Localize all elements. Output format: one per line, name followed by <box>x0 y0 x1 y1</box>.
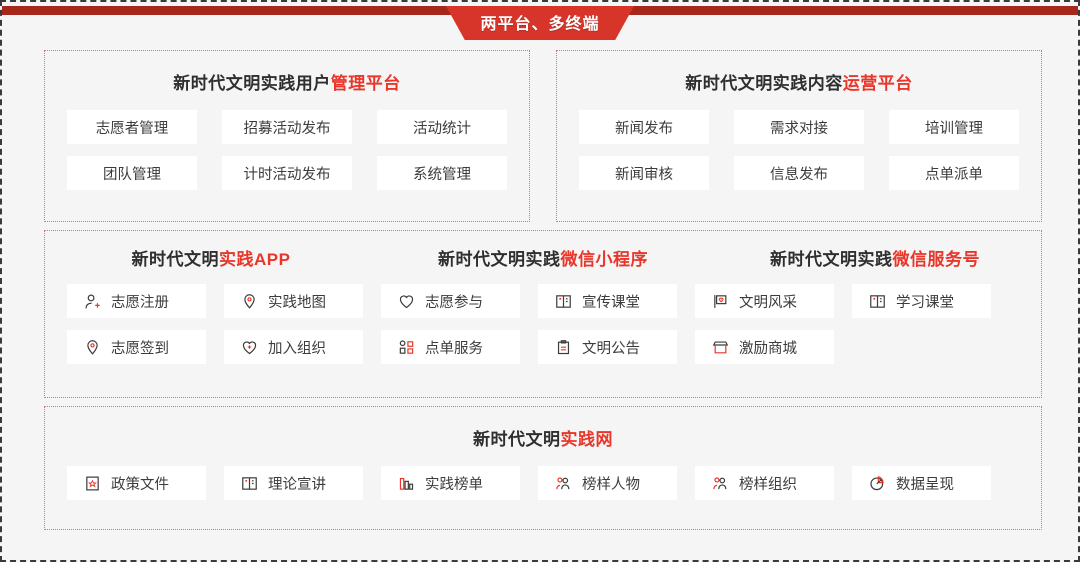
ribbon-label: 两平台、多终端 <box>480 10 599 34</box>
tile-team-management[interactable]: 团队管理 <box>67 156 197 190</box>
tile-volunteer-management[interactable]: 志愿者管理 <box>67 110 197 144</box>
tile-role-model-organization[interactable]: 榜样组织 <box>695 466 834 500</box>
tile-system-management[interactable]: 系统管理 <box>377 156 507 190</box>
heading-app: 新时代文明实践APP <box>45 245 377 270</box>
tile-recruit-activity-publish[interactable]: 招募活动发布 <box>222 110 352 144</box>
tile-row: 政策文件 理论宣讲 实践榜单 <box>67 466 1019 500</box>
tile-row: 志愿者管理 招募活动发布 活动统计 <box>45 110 529 144</box>
tile-join-organization[interactable]: 加入组织 <box>224 330 363 364</box>
tile-volunteer-checkin[interactable]: 志愿签到 <box>67 330 206 364</box>
document-star-icon <box>83 474 101 492</box>
panel-user-platform: 新时代文明实践用户管理平台 志愿者管理 招募活动发布 活动统计 团队管理 计时活… <box>44 50 530 222</box>
tile-row: 团队管理 计时活动发布 系统管理 <box>45 156 529 190</box>
panel-terminals: 新时代文明实践APP 新时代文明实践微信小程序 新时代文明实践微信服务号 志愿注… <box>44 230 1042 398</box>
tile-volunteer-participate[interactable]: 志愿参与 <box>381 284 520 318</box>
tile-label: 宣传课堂 <box>582 291 640 312</box>
ribbon-banner: 两平台、多终端 <box>446 6 634 40</box>
tile-row: 新闻审核 信息发布 点单派单 <box>557 156 1041 190</box>
title-plain: 新时代文明实践用户 <box>173 74 331 93</box>
heading-miniprogram: 新时代文明实践微信小程序 <box>377 245 709 270</box>
tile-practice-ranking[interactable]: 实践榜单 <box>381 466 520 500</box>
tile-order-service[interactable]: 点单服务 <box>381 330 520 364</box>
tile-label: 文明风采 <box>739 291 797 312</box>
shop-icon <box>711 338 729 356</box>
tile-label: 文明公告 <box>582 337 640 358</box>
title-plain: 新时代文明实践 <box>770 250 893 269</box>
open-book-icon <box>554 292 572 310</box>
tile-activity-statistics[interactable]: 活动统计 <box>377 110 507 144</box>
map-pin-icon <box>240 292 258 310</box>
tile-row: 志愿注册 实践地图 志愿参与 <box>67 284 1019 318</box>
tile-news-publish[interactable]: 新闻发布 <box>579 110 709 144</box>
tile-row: 志愿签到 加入组织 点单服务 <box>67 330 1019 364</box>
terminal-headings: 新时代文明实践APP 新时代文明实践微信小程序 新时代文明实践微信服务号 <box>45 245 1041 270</box>
open-book-icon <box>240 474 258 492</box>
tile-timed-activity-publish[interactable]: 计时活动发布 <box>222 156 352 190</box>
terminal-tiles: 志愿注册 实践地图 志愿参与 <box>45 284 1041 364</box>
tile-news-review[interactable]: 新闻审核 <box>579 156 709 190</box>
tile-data-presentation[interactable]: 数据呈现 <box>852 466 991 500</box>
title-highlight: 微信小程序 <box>561 250 649 269</box>
title-highlight: 实践APP <box>219 250 290 269</box>
tile-label: 政策文件 <box>111 473 169 494</box>
tile-label: 激励商城 <box>739 337 797 358</box>
bar-chart-icon <box>397 474 415 492</box>
tile-row: 新闻发布 需求对接 培训管理 <box>557 110 1041 144</box>
heart-icon <box>397 292 415 310</box>
flag-heart-icon <box>711 292 729 310</box>
tile-label: 实践榜单 <box>425 473 483 494</box>
panel-website-title: 新时代文明实践网 <box>45 425 1041 450</box>
open-book-icon <box>868 292 886 310</box>
two-people-icon <box>711 474 729 492</box>
title-plain: 新时代文明 <box>132 250 220 269</box>
tile-volunteer-register[interactable]: 志愿注册 <box>67 284 206 318</box>
tile-label: 学习课堂 <box>896 291 954 312</box>
tile-training-management[interactable]: 培训管理 <box>889 110 1019 144</box>
tile-practice-map[interactable]: 实践地图 <box>224 284 363 318</box>
tile-label: 理论宣讲 <box>268 473 326 494</box>
two-people-icon <box>554 474 572 492</box>
tile-incentive-mall[interactable]: 激励商城 <box>695 330 834 364</box>
tile-policy-documents[interactable]: 政策文件 <box>67 466 206 500</box>
tile-theory-lecture[interactable]: 理论宣讲 <box>224 466 363 500</box>
title-highlight: 实践网 <box>561 430 614 449</box>
tile-label: 加入组织 <box>268 337 326 358</box>
panel-website: 新时代文明实践网 政策文件 理论宣讲 <box>44 406 1042 530</box>
tile-study-classroom[interactable]: 学习课堂 <box>852 284 991 318</box>
tile-label: 榜样组织 <box>739 473 797 494</box>
title-highlight: 管理平台 <box>331 74 401 93</box>
tile-civilization-announcement[interactable]: 文明公告 <box>538 330 677 364</box>
clipboard-icon <box>554 338 572 356</box>
heading-service-account: 新时代文明实践微信服务号 <box>709 245 1041 270</box>
tile-publicity-classroom[interactable]: 宣传课堂 <box>538 284 677 318</box>
tile-order-dispatch[interactable]: 点单派单 <box>889 156 1019 190</box>
panel-website-tiles: 政策文件 理论宣讲 实践榜单 <box>45 466 1041 500</box>
title-highlight: 运营平台 <box>843 74 913 93</box>
tile-label: 数据呈现 <box>896 473 954 494</box>
heart-plus-icon <box>240 338 258 356</box>
title-plain: 新时代文明 <box>473 430 561 449</box>
tile-label: 榜样人物 <box>582 473 640 494</box>
panel-user-platform-tiles: 志愿者管理 招募活动发布 活动统计 团队管理 计时活动发布 系统管理 <box>45 110 529 190</box>
panel-ops-platform: 新时代文明实践内容运营平台 新闻发布 需求对接 培训管理 新闻审核 信息发布 点… <box>556 50 1042 222</box>
tile-role-model-person[interactable]: 榜样人物 <box>538 466 677 500</box>
panel-user-platform-title: 新时代文明实践用户管理平台 <box>45 69 529 94</box>
panel-ops-platform-title: 新时代文明实践内容运营平台 <box>557 69 1041 94</box>
service-grid-icon <box>397 338 415 356</box>
person-plus-icon <box>83 292 101 310</box>
tile-label: 点单服务 <box>425 337 483 358</box>
title-plain: 新时代文明实践内容 <box>685 74 843 93</box>
tile-info-publish[interactable]: 信息发布 <box>734 156 864 190</box>
tile-label: 志愿注册 <box>111 291 169 312</box>
tile-label: 志愿签到 <box>111 337 169 358</box>
map-pin-icon <box>83 338 101 356</box>
infographic-root: 两平台、多终端 新时代文明实践用户管理平台 志愿者管理 招募活动发布 活动统计 … <box>0 0 1080 562</box>
title-plain: 新时代文明实践 <box>438 250 561 269</box>
title-highlight: 微信服务号 <box>893 250 981 269</box>
tile-label: 实践地图 <box>268 291 326 312</box>
tile-civilization-style[interactable]: 文明风采 <box>695 284 834 318</box>
tile-label: 志愿参与 <box>425 291 483 312</box>
panel-ops-platform-tiles: 新闻发布 需求对接 培训管理 新闻审核 信息发布 点单派单 <box>557 110 1041 190</box>
pie-chart-icon <box>868 474 886 492</box>
tile-demand-matching[interactable]: 需求对接 <box>734 110 864 144</box>
